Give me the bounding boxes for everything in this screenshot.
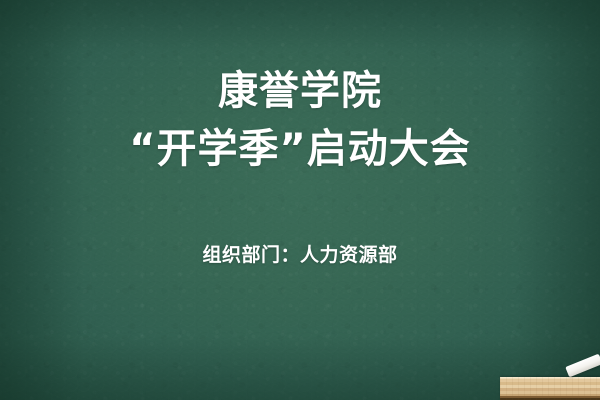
title-line-2: “开学季”启动大会 xyxy=(129,120,471,178)
slide-content: 康誉学院 “开学季”启动大会 组织部门：人力资源部 xyxy=(0,0,600,400)
title-slide: 康誉学院 “开学季”启动大会 组织部门：人力资源部 xyxy=(0,0,600,400)
slide-title: 康誉学院 “开学季”启动大会 xyxy=(129,62,471,178)
wooden-chalk-ledge xyxy=(500,377,600,400)
title-line-1: 康誉学院 xyxy=(129,62,471,120)
slide-subtitle: 组织部门：人力资源部 xyxy=(202,240,397,267)
